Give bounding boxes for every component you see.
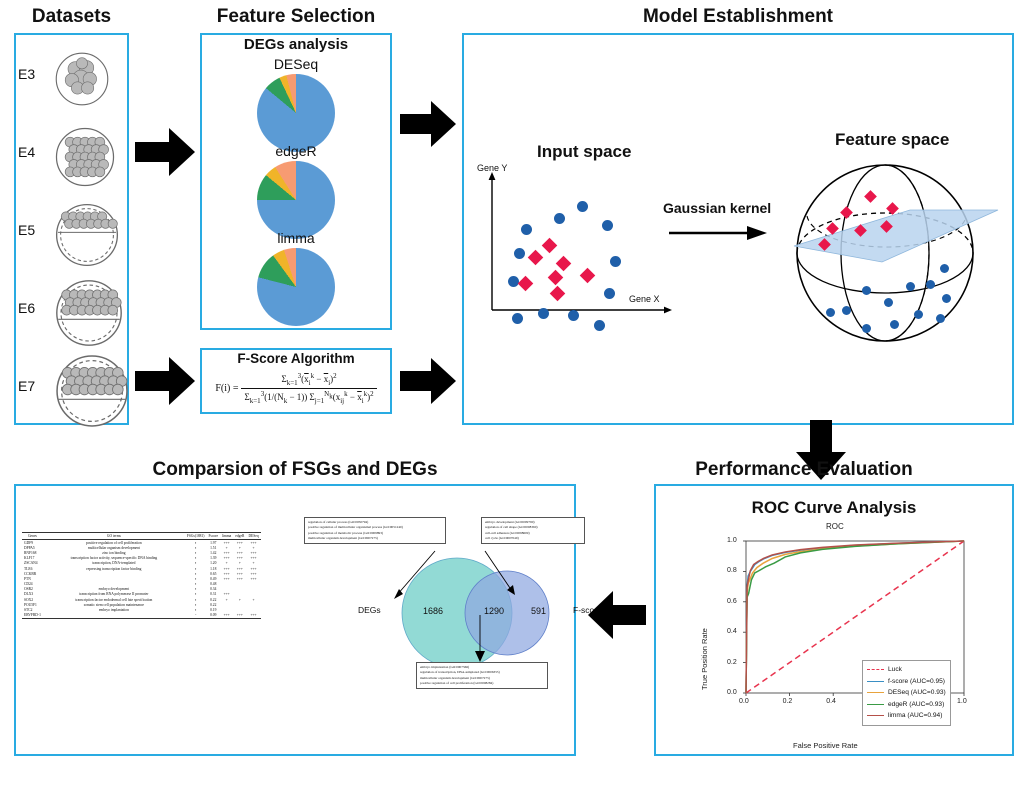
model-panel-title: Model Establishment	[462, 6, 1014, 28]
pie-chart-deseq	[257, 74, 335, 152]
fscore-algorithm-title: F-Score Algorithm	[200, 351, 392, 366]
legend-item: Luck	[867, 664, 946, 676]
feature-space-point-class-a	[906, 282, 915, 291]
feature-space-point-class-a	[926, 280, 935, 289]
venn-leader-lines	[300, 515, 585, 675]
feature-space-point-class-a	[936, 314, 945, 323]
legend-label: f-score (AUC=0.95)	[888, 676, 945, 688]
dataset-stage-e6: E6	[14, 274, 129, 352]
table-cell-fsg: -	[185, 613, 207, 619]
legend-swatch	[867, 704, 884, 705]
input-space-point-class-a	[602, 220, 613, 231]
roc-legend: Luckf-score (AUC=0.95)DESeq (AUC=0.93)ed…	[862, 660, 951, 726]
dataset-stage-e3: E3	[14, 40, 129, 118]
input-space-point-class-a	[604, 288, 615, 299]
comparison-panel-title: Comparsion of FSGs and DEGs	[14, 459, 576, 481]
datasets-panel-title: Datasets	[14, 6, 129, 28]
table-header-cell: edgeR	[233, 533, 246, 540]
gaussian-kernel-label: Gaussian kernel	[663, 200, 771, 216]
stage-label: E5	[18, 222, 35, 238]
table-header-cell: GO terms	[43, 533, 185, 540]
roc-xlabel: False Positive Rate	[793, 741, 858, 750]
table-header-cell: FSGs(1881)	[185, 533, 207, 540]
table-cell-edger: +++	[233, 613, 246, 619]
roc-xtick: 0.2	[783, 698, 793, 705]
go-term-line: positive regulation of cell proliferatio…	[420, 681, 544, 686]
arrow-degs-to-model	[398, 95, 458, 153]
table-row: ERVFRD-1-0.09+++++++++	[22, 613, 261, 619]
arrow-datasets-to-degs	[133, 120, 197, 184]
table-cell-gene: ERVFRD-1	[22, 613, 43, 619]
roc-ylabel: True Position Rate	[700, 628, 709, 690]
legend-label: edgeR (AUC=0.93)	[888, 699, 944, 711]
legend-swatch	[867, 681, 884, 682]
roc-xtick: 0.4	[826, 698, 836, 705]
input-space-point-class-a	[512, 313, 523, 324]
table-header-cell: DESeq	[246, 533, 260, 540]
table-header-cell: Genes	[22, 533, 43, 540]
pie-title-deseq: DESeq	[200, 56, 392, 72]
feature-space-point-class-a	[862, 286, 871, 295]
stage-label: E6	[18, 300, 35, 316]
feature-space-point-class-a	[884, 298, 893, 307]
legend-swatch	[867, 669, 884, 670]
arrow-performance-to-comparison	[586, 585, 648, 645]
dataset-stage-e5: E5	[14, 196, 129, 274]
embryo-icon	[54, 202, 120, 268]
roc-ytick: 0.6	[727, 598, 737, 605]
roc-curve-analysis-title: ROC Curve Analysis	[654, 498, 1014, 518]
legend-item: edgeR (AUC=0.93)	[867, 699, 946, 711]
roc-chart-title: ROC	[826, 522, 844, 531]
embryo-icon	[54, 51, 110, 107]
roc-xtick: 1.0	[957, 698, 967, 705]
embryo-icon	[54, 278, 124, 348]
legend-label: DESeq (AUC=0.93)	[888, 687, 946, 699]
feature-space-point-class-a	[942, 294, 951, 303]
input-space-point-class-a	[610, 256, 621, 267]
input-space-point-class-a	[508, 276, 519, 287]
input-space-point-class-a	[594, 320, 605, 331]
table-cell-limma: +++	[220, 613, 233, 619]
stage-label: E4	[18, 144, 35, 160]
feature-space-point-class-a	[862, 324, 871, 333]
input-space-point-class-a	[554, 213, 565, 224]
performance-panel-title: Performance Evaluation	[654, 459, 954, 481]
legend-item: f-score (AUC=0.95)	[867, 676, 946, 688]
stage-label: E7	[18, 378, 35, 394]
roc-ytick: 0.2	[727, 659, 737, 666]
input-space-point-class-a	[538, 308, 549, 319]
input-space-label: Input space	[537, 142, 631, 162]
embryo-icon	[54, 353, 130, 429]
embryo-icon	[54, 126, 116, 188]
table-cell-fscore: 0.09	[206, 613, 220, 619]
input-space-point-class-a	[568, 310, 579, 321]
roc-xtick: 0.0	[739, 698, 749, 705]
feature-space-point-class-a	[914, 310, 923, 319]
arrow-datasets-to-fscore	[133, 350, 197, 412]
table-header-cell: limma	[220, 533, 233, 540]
legend-label: Luck	[888, 664, 902, 676]
legend-item: limma (AUC=0.94)	[867, 710, 946, 722]
roc-ytick: 0.4	[727, 628, 737, 635]
legend-label: limma (AUC=0.94)	[888, 710, 942, 722]
feature-space-point-class-a	[940, 264, 949, 273]
table-cell-deseq: +++	[246, 613, 260, 619]
input-space-point-class-a	[577, 201, 588, 212]
feature-space-point-class-a	[890, 320, 899, 329]
pie-chart-limma	[257, 248, 335, 326]
stage-label: E3	[18, 66, 35, 82]
dataset-stage-e7: E7	[14, 352, 129, 430]
roc-ytick: 0.0	[727, 689, 737, 696]
feature-space-label: Feature space	[835, 130, 949, 150]
roc-ytick: 0.8	[727, 567, 737, 574]
legend-swatch	[867, 715, 884, 716]
dataset-stage-e4: E4	[14, 118, 129, 196]
roc-ytick: 1.0	[727, 537, 737, 544]
gene-go-table: GenesGO termsFSGs(1881)FscorelimmaedgeRD…	[22, 532, 261, 619]
arrow-fscore-to-model	[398, 352, 458, 410]
table-header-row: GenesGO termsFSGs(1881)FscorelimmaedgeRD…	[22, 533, 261, 540]
pie-title-edger: edgeR	[200, 143, 392, 159]
table-cell-go	[43, 613, 185, 619]
pie-chart-edger	[257, 161, 335, 239]
feature-space-point-class-a	[842, 306, 851, 315]
table-header-cell: Fscore	[206, 533, 220, 540]
input-space-point-class-a	[514, 248, 525, 259]
pie-title-limma: limma	[200, 230, 392, 246]
fscore-formula: F(i) =Σk=13(xik − xi)2Σk=13(1/(Nk − 1)) …	[203, 372, 389, 405]
input-space-point-class-a	[521, 224, 532, 235]
arrow-gaussian-kernel	[669, 225, 769, 241]
degs-analysis-label: DEGs analysis	[200, 36, 392, 53]
feature-space-point-class-a	[826, 308, 835, 317]
legend-swatch	[867, 692, 884, 693]
input-space-axes	[486, 170, 676, 320]
legend-item: DESeq (AUC=0.93)	[867, 687, 946, 699]
feature-selection-panel-title: Feature Selection	[200, 6, 392, 28]
